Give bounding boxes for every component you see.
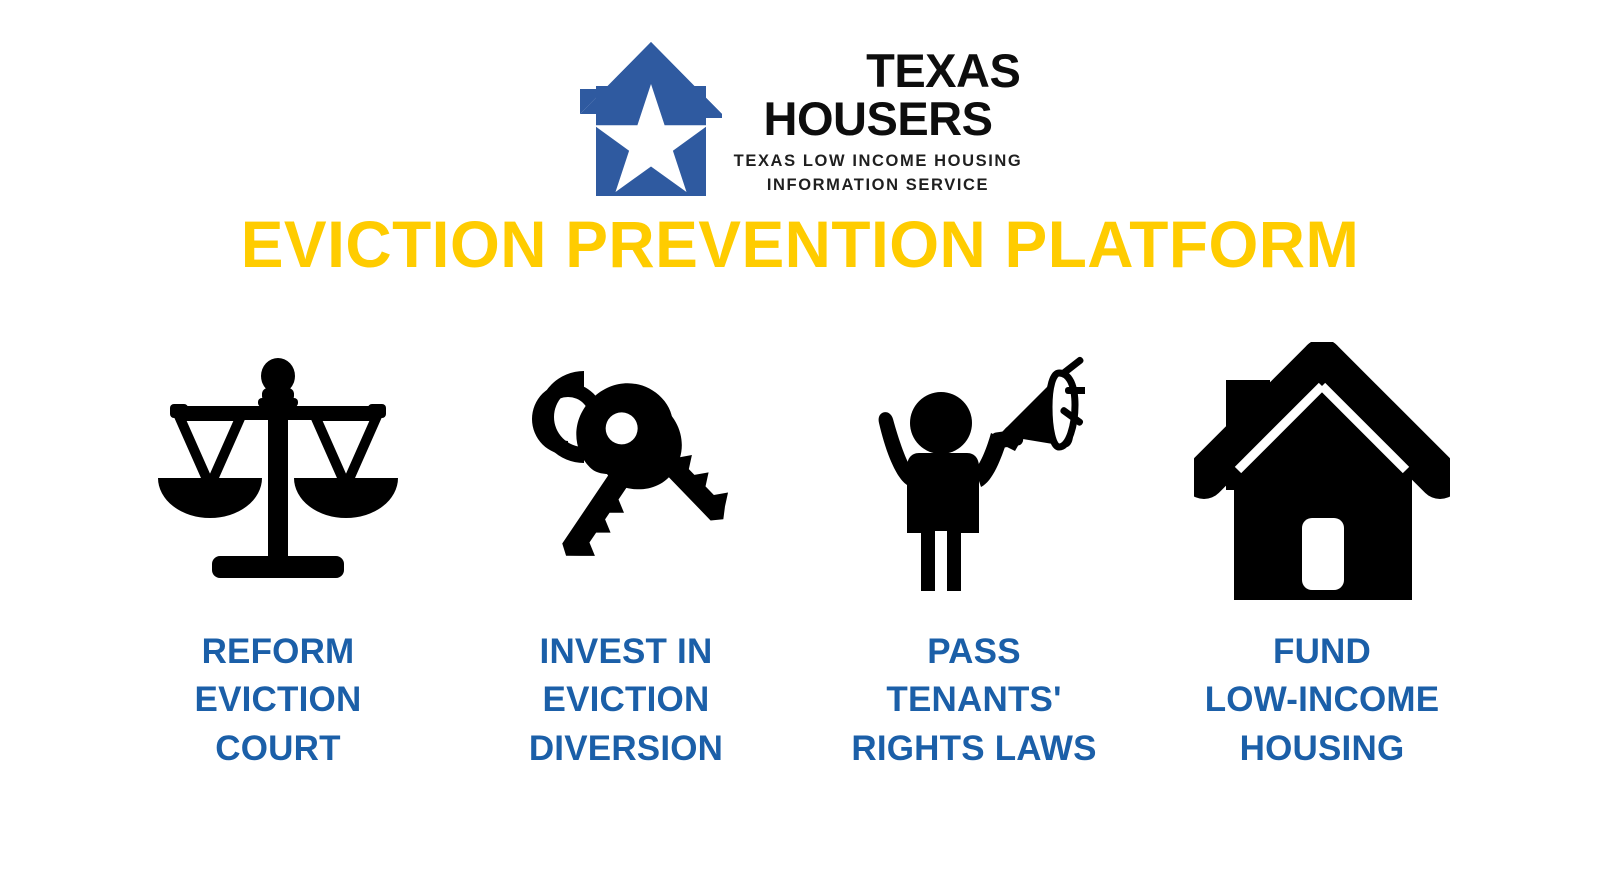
logo-tagline-line2: INFORMATION SERVICE [734,174,1023,198]
house-with-star-icon [578,40,724,198]
logo-tagline-line1: TEXAS LOW INCOME HOUSING [734,150,1023,174]
pillar-invest-in-eviction-diversion: INVEST IN EVICTION DIVERSION [458,345,794,773]
platform-pillars: REFORM EVICTION COURT [110,345,1490,773]
pillar-label-line: TENANTS' [851,676,1096,724]
pillar-label: INVEST IN EVICTION DIVERSION [529,628,723,773]
pillar-label-line: RIGHTS LAWS [851,725,1096,773]
pillar-reform-eviction-court: REFORM EVICTION COURT [110,345,446,773]
texas-housers-logo: TEXAS HOUSERS TEXAS LOW INCOME HOUSING I… [0,40,1600,200]
poster-canvas: TEXAS HOUSERS TEXAS LOW INCOME HOUSING I… [0,0,1600,888]
pillar-label-line: COURT [195,725,362,773]
page-title: EVICTION PREVENTION PLATFORM [24,210,1576,279]
balance-scales-icon [154,345,402,600]
pillar-label-line: LOW-INCOME [1205,676,1440,724]
pillar-label: FUND LOW-INCOME HOUSING [1205,628,1440,773]
house-icon [1194,345,1450,600]
pillar-label-line: FUND [1205,628,1440,676]
pillar-label-line: REFORM [195,628,362,676]
keys-icon [510,345,742,600]
person-with-megaphone-icon [863,345,1085,600]
pillar-label: PASS TENANTS' RIGHTS LAWS [851,628,1096,773]
logo-wordmark-line2: HOUSERS [764,94,993,143]
pillar-label: REFORM EVICTION COURT [195,628,362,773]
pillar-label-line: PASS [851,628,1096,676]
pillar-label-line: HOUSING [1205,725,1440,773]
pillar-pass-tenants-rights-laws: PASS TENANTS' RIGHTS LAWS [806,345,1142,773]
pillar-label-line: EVICTION [529,676,723,724]
logo-wordmark-line1: TEXAS [866,48,1022,94]
pillar-fund-low-income-housing: FUND LOW-INCOME HOUSING [1154,345,1490,773]
logo-tagline: TEXAS LOW INCOME HOUSING INFORMATION SER… [734,150,1023,198]
pillar-label-line: INVEST IN [529,628,723,676]
pillar-label-line: EVICTION [195,676,362,724]
pillar-label-line: DIVERSION [529,725,723,773]
